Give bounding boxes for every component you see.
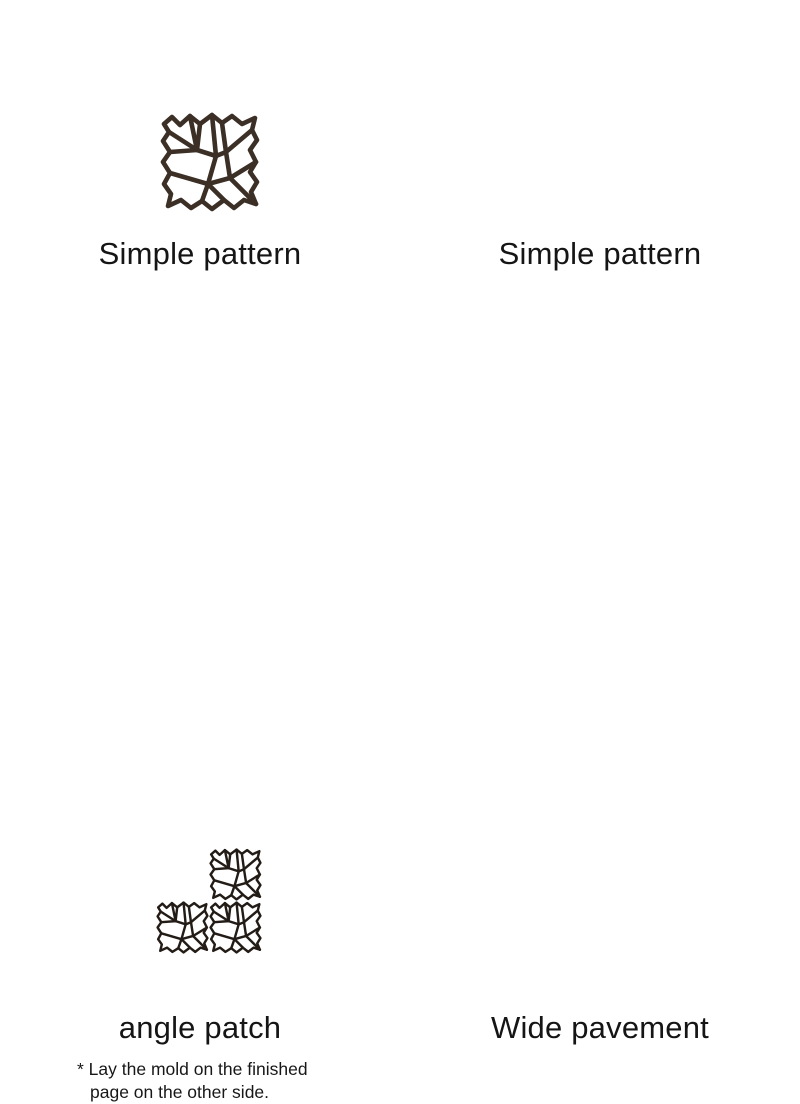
panel-simple-pattern-grid: Simple pattern * Place only in dark area…	[400, 0, 800, 400]
pattern-sheet: Simple pattern	[0, 0, 800, 800]
caption-simple-pattern-grid: Simple pattern	[400, 238, 800, 271]
panel-wide-pavement: Wide pavement * Create a wide plaster. B…	[400, 400, 800, 800]
figure-l-shaped-cobble-patch	[152, 844, 264, 956]
panel-simple-pattern: Simple pattern	[0, 0, 400, 400]
figure-single-cobble-tile	[160, 112, 260, 212]
panel-angle-patch: angle patch * Lay the mold on the finish…	[0, 400, 400, 800]
caption-angle-patch: angle patch	[0, 1012, 400, 1045]
note-line: page on the other side.	[77, 1081, 308, 1104]
note-line: * Lay the mold on the finished	[77, 1058, 308, 1081]
caption-wide-pavement: Wide pavement	[400, 1012, 800, 1045]
caption-simple-pattern: Simple pattern	[0, 238, 400, 271]
note-angle-patch: * Lay the mold on the finished page on t…	[77, 1058, 308, 1104]
